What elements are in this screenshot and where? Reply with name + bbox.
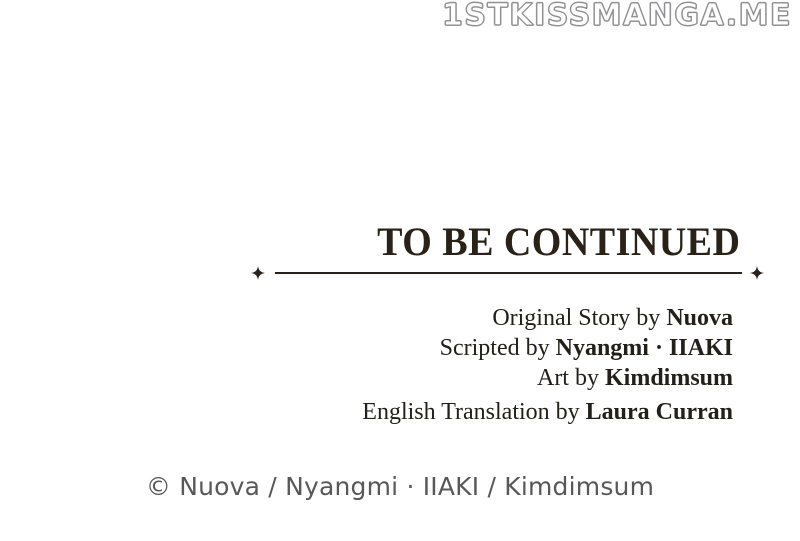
credits-list: Original Story by Nuova Scripted by Nyan…	[362, 303, 733, 427]
credit-name-value: Nyangmi · IIAKI	[556, 335, 733, 361]
credit-role-label: Scripted by	[440, 335, 556, 361]
divider-rule	[275, 272, 742, 274]
comic-end-card-page: 1STKISSMANGA.ME TO BE CONTINUED Original…	[0, 0, 800, 541]
credit-line-original-story: Original Story by Nuova	[362, 303, 733, 333]
copyright-notice: © Nuova / Nyangmi · IIAKI / Kimdimsum	[0, 472, 800, 501]
credit-line-art-by: Art by Kimdimsum	[362, 363, 733, 393]
credit-name-value: Nuova	[666, 305, 733, 331]
diamond-ornament-left-icon	[251, 266, 265, 280]
credit-role-label: Original Story by	[492, 305, 666, 331]
credit-line-scripted-by: Scripted by Nyangmi · IIAKI	[362, 333, 733, 363]
credit-role-label: Art by	[537, 365, 605, 391]
credit-line-english-translation: English Translation by Laura Curran	[362, 397, 733, 427]
to-be-continued-title: TO BE CONTINUED	[377, 220, 740, 264]
credit-name-value: Kimdimsum	[605, 365, 733, 391]
credit-role-label: English Translation by	[362, 399, 585, 425]
site-watermark: 1STKISSMANGA.ME	[442, 0, 792, 33]
diamond-ornament-right-icon	[750, 266, 764, 280]
ornamental-divider	[250, 265, 766, 281]
credit-name-value: Laura Curran	[586, 399, 733, 425]
